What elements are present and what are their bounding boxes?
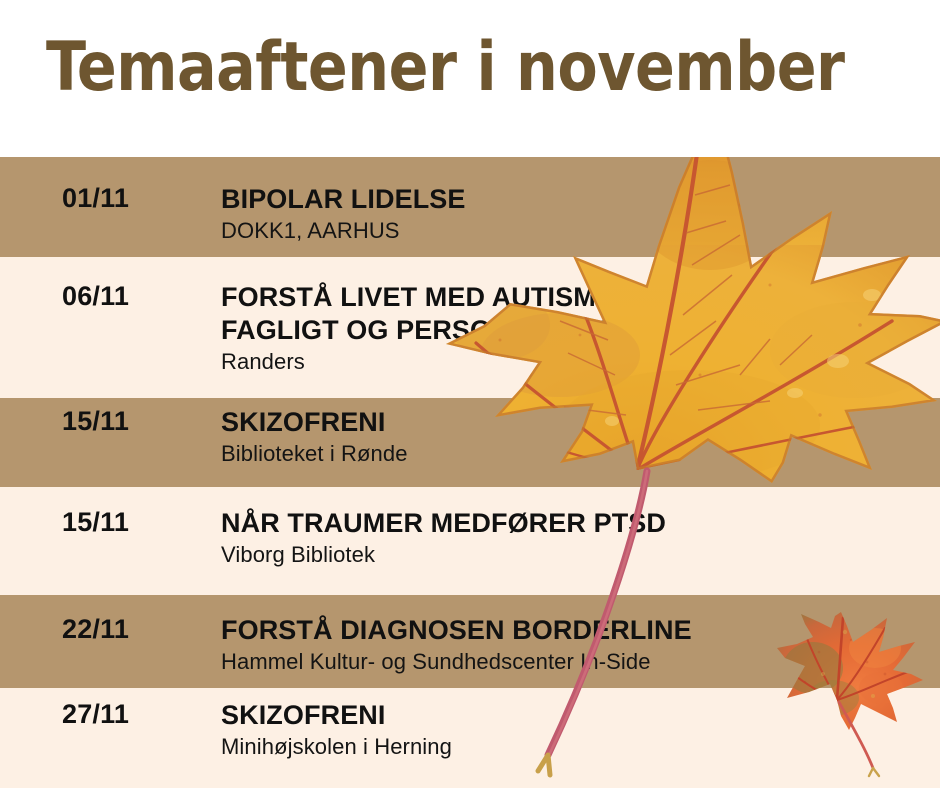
event-title: BIPOLAR LIDELSE — [221, 183, 921, 216]
title-band: Temaaftener i november — [0, 0, 940, 157]
event-title: SKIZOFRENI — [221, 699, 921, 732]
event-venue: Hammel Kultur- og Sundhedscenter In-Side — [221, 648, 921, 676]
event-date: 01/11 — [62, 183, 129, 213]
event-venue: Randers — [221, 348, 921, 376]
event-details: SKIZOFRENIMinihøjskolen i Herning — [221, 699, 921, 761]
event-details: SKIZOFRENIBiblioteket i Rønde — [221, 406, 921, 468]
event-venue: Viborg Bibliotek — [221, 541, 921, 569]
event-details: FORSTÅ DIAGNOSEN BORDERLINEHammel Kultur… — [221, 614, 921, 676]
event-date: 27/11 — [62, 699, 129, 729]
event-title: NÅR TRAUMER MEDFØRER PTSD — [221, 507, 921, 540]
event-details: BIPOLAR LIDELSEDOKK1, AARHUS — [221, 183, 921, 245]
event-title: FORSTÅ LIVET MED AUTISME UD FRA ET FAGLI… — [221, 281, 861, 347]
event-date: 15/11 — [62, 507, 129, 537]
event-venue: Biblioteket i Rønde — [221, 440, 921, 468]
event-venue: DOKK1, AARHUS — [221, 217, 921, 245]
event-venue: Minihøjskolen i Herning — [221, 733, 921, 761]
event-title: FORSTÅ DIAGNOSEN BORDERLINE — [221, 614, 921, 647]
poster-canvas: 01/11BIPOLAR LIDELSEDOKK1, AARHUS06/11FO… — [0, 0, 940, 788]
event-details: FORSTÅ LIVET MED AUTISME UD FRA ET FAGLI… — [221, 281, 921, 376]
event-date: 22/11 — [62, 614, 129, 644]
event-details: NÅR TRAUMER MEDFØRER PTSDViborg Bibliote… — [221, 507, 921, 569]
event-date: 06/11 — [62, 281, 129, 311]
event-title: SKIZOFRENI — [221, 406, 921, 439]
page-title: Temaaftener i november — [46, 26, 845, 110]
event-date: 15/11 — [62, 406, 129, 436]
